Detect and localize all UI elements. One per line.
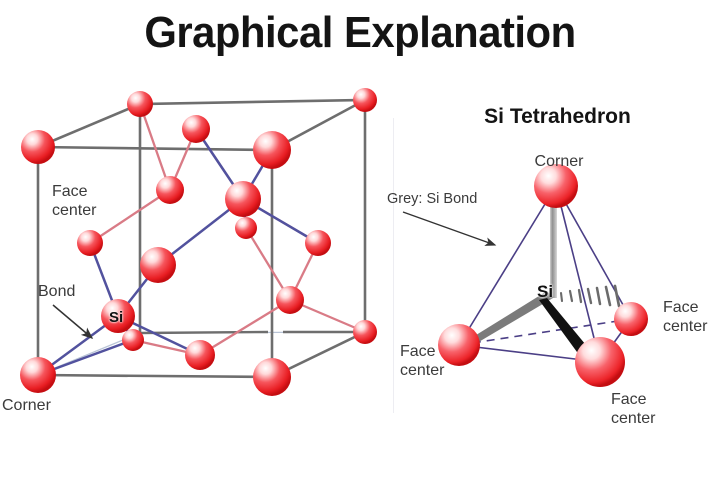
atom-corner-bot-front-left	[20, 357, 56, 393]
atom-corner-bot-back-right	[353, 320, 377, 344]
label-si-atom: Si	[109, 309, 123, 326]
label-tetra-face-center-right: Face center	[663, 298, 707, 336]
edge-corner-to-fc-right	[556, 186, 631, 319]
atom-corner-top-front-left	[21, 130, 55, 164]
si-tetrahedron-svg	[395, 70, 720, 495]
atom-face-center-back	[225, 181, 261, 217]
atom-corner-top-back-left	[127, 91, 153, 117]
atom-corner-bot-front-right	[253, 358, 291, 396]
grey-si-bond-leader-line	[403, 212, 495, 245]
label-corner: Corner	[2, 396, 51, 415]
atom-interior-upper	[156, 176, 184, 204]
si-tetrahedron-panel: Si Tetrahedron	[395, 70, 720, 495]
atom-corner-top-front-right	[253, 131, 291, 169]
atom-interior-mid	[235, 217, 257, 239]
atom-face-center-top	[182, 115, 210, 143]
atom-interior-right	[276, 286, 304, 314]
atom-face-center-right	[305, 230, 331, 256]
label-face-center: Face center	[52, 182, 96, 220]
cube-back-bottom-edge	[140, 332, 365, 333]
atom-face-center-bottom	[185, 340, 215, 370]
label-tetra-face-center-bottom: Face center	[611, 390, 655, 428]
label-grey-si-bond: Grey: Si Bond	[387, 190, 477, 209]
label-tetra-si-center: Si	[537, 282, 553, 302]
atom-interior-low	[122, 329, 144, 351]
page-title: Graphical Explanation	[18, 8, 702, 58]
atom-tetra-face-center-bottom	[575, 337, 625, 387]
label-tetra-corner: Corner	[509, 152, 609, 171]
atom-corner-top-back-right	[353, 88, 377, 112]
si-bond-hashed-to-fc-right	[561, 286, 619, 306]
atom-tetra-face-center-right	[614, 302, 648, 336]
diamond-structure-panel: Face center Bond Corner Si Diamond Struc…	[0, 70, 395, 495]
bond-leader-line	[53, 305, 92, 338]
screenshot-root: Graphical Explanation	[0, 0, 720, 495]
label-tetra-face-center-left: Face center	[400, 342, 444, 380]
label-bond: Bond	[38, 282, 75, 301]
atom-face-center-front	[140, 247, 176, 283]
atom-face-center-left	[77, 230, 103, 256]
